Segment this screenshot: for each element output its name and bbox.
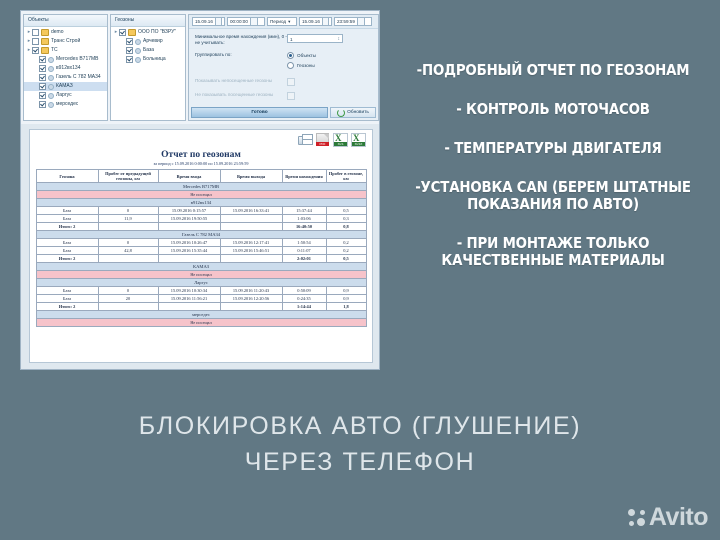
geozones-tree-item[interactable]: ▸ООО ПО "ВЗРУ" bbox=[111, 28, 185, 37]
report-column-header: Время входа bbox=[158, 170, 220, 183]
tree-item-label: в912вх134 bbox=[56, 64, 81, 73]
group-by-option-label: Геозоны bbox=[297, 63, 315, 68]
report-cell: 15.09.2016 12:17:41 bbox=[220, 239, 282, 247]
group-by-radio[interactable]: Геозоны bbox=[287, 62, 316, 69]
marketing-bullet: - ПРИ МОНТАЖЕ ТОЛЬКО КАЧЕСТВЕННЫЕ МАТЕРИ… bbox=[415, 235, 692, 269]
report-total-row: Итого: 216:40:500,8 bbox=[36, 223, 366, 231]
report-cell: 15.09.2016 12:20:56 bbox=[220, 295, 282, 303]
folder-icon bbox=[41, 38, 49, 45]
report-total-cell: 2:02:01 bbox=[282, 255, 326, 263]
report-cell: База bbox=[36, 247, 98, 255]
report-group-row: КАМАЗ bbox=[36, 263, 366, 271]
objects-tree-item[interactable]: ▸demo bbox=[24, 28, 107, 37]
checkbox[interactable] bbox=[39, 92, 46, 99]
report-cell: 0:50:09 bbox=[282, 287, 326, 295]
param-checkbox-label: Не показывать посещенные геозоны bbox=[195, 92, 287, 98]
report-notice-text: Не посещал bbox=[36, 191, 366, 199]
checkbox[interactable] bbox=[32, 29, 39, 36]
report-notice-row: Не посещал bbox=[36, 191, 366, 199]
group-by-label: Группировать по: bbox=[195, 52, 287, 58]
refresh-button-label: Обновить bbox=[347, 108, 369, 117]
period-label: Период bbox=[270, 17, 286, 26]
folder-icon bbox=[41, 29, 49, 36]
report-table-header-row: ГеозонаПробег от предыдущей геозоны, кмВ… bbox=[36, 170, 366, 183]
report-cell: База bbox=[36, 287, 98, 295]
footer-line-1: БЛОКИРОВКА АВТО (ГЛУШЕНИЕ) bbox=[0, 408, 720, 444]
report-total-cell: 0,8 bbox=[326, 223, 366, 231]
tree-item-label: Газель С 782 МА34 bbox=[56, 73, 101, 82]
objects-tree-item[interactable]: Mercedes B717MB bbox=[24, 55, 107, 64]
report-total-cell bbox=[98, 303, 158, 311]
time-from-value: 00:00:00 bbox=[230, 17, 248, 26]
tree-item-label: demo bbox=[51, 28, 64, 37]
radio-indicator[interactable] bbox=[287, 62, 294, 69]
date-range-bar: 15.09.16 00:00:00 Период ▾ 15.09.16 23:5… bbox=[189, 15, 378, 29]
checkbox[interactable] bbox=[39, 83, 46, 90]
chevron-down-icon[interactable] bbox=[357, 17, 365, 26]
calendar-icon[interactable] bbox=[322, 17, 329, 26]
objects-tree-item[interactable]: Ларгус bbox=[24, 91, 107, 100]
objects-tree[interactable]: ▸demo▸Транс Строй▸ТСMercedes B717MBв912в… bbox=[24, 27, 107, 109]
report-group-name: Mercedes B717MB bbox=[36, 183, 366, 191]
vehicle-icon bbox=[48, 66, 54, 72]
group-by-option-label: Объекты bbox=[297, 53, 316, 58]
report-cell: 42,8 bbox=[98, 247, 158, 255]
avito-watermark: Avito bbox=[628, 503, 708, 532]
report-cell: 11,9 bbox=[98, 215, 158, 223]
report-cell: 0 bbox=[98, 207, 158, 215]
report-group-name: КАМАЗ bbox=[36, 263, 366, 271]
date-from-input[interactable]: 15.09.16 bbox=[192, 17, 225, 26]
marketing-bullet-list: -ПОДРОБНЫЙ ОТЧЕТ ПО ГЕОЗОНАМ- КОНТРОЛЬ М… bbox=[392, 62, 714, 269]
geozone-icon bbox=[135, 57, 141, 63]
report-cell bbox=[220, 215, 282, 223]
report-data-row: База2015.09.2016 11:56:2115.09.2016 12:2… bbox=[36, 295, 366, 303]
report-cell: 15.09.2016 11:56:21 bbox=[158, 295, 220, 303]
report-total-cell bbox=[220, 255, 282, 263]
checkbox[interactable] bbox=[32, 47, 39, 54]
time-to-input[interactable]: 23:59:59 bbox=[334, 17, 372, 26]
report-total-cell: 16:40:50 bbox=[282, 223, 326, 231]
tree-item-label: Mercedes B717MB bbox=[56, 55, 99, 64]
report-column-header: Пробег от предыдущей геозоны, км bbox=[98, 170, 158, 183]
report-group-name: в912вх134 bbox=[36, 199, 366, 207]
report-cell: 0,5 bbox=[326, 207, 366, 215]
checkbox[interactable] bbox=[39, 101, 46, 108]
report-total-cell bbox=[220, 223, 282, 231]
app-screenshot: Объекты ▸demo▸Транс Строй▸ТСMercedes B71… bbox=[20, 10, 380, 370]
report-notice-text: Не посещал bbox=[36, 319, 366, 327]
group-by-options[interactable]: ОбъектыГеозоны bbox=[287, 52, 316, 72]
objects-tree-item[interactable]: мерседес bbox=[24, 100, 107, 109]
report-column-header: Время выхода bbox=[220, 170, 282, 183]
xls-icon[interactable]: XXLS bbox=[333, 133, 348, 147]
report-data-row: База42,815.09.2016 15:35:4415.09.2016 15… bbox=[36, 247, 366, 255]
vehicle-icon bbox=[48, 57, 54, 63]
report-group-name: Ларгус bbox=[36, 279, 366, 287]
tree-item-label: База bbox=[143, 46, 154, 55]
report-column-header: Геозона bbox=[36, 170, 98, 183]
checkbox[interactable] bbox=[39, 65, 46, 72]
report-cell: 1:50:54 bbox=[282, 239, 326, 247]
avito-wordmark: Avito bbox=[649, 503, 708, 532]
checkbox[interactable] bbox=[32, 38, 39, 45]
report-group-row: в912вх134 bbox=[36, 199, 366, 207]
tree-item-label: КАМАЗ bbox=[56, 82, 73, 91]
param-checkbox-label: Показывать непосещенные геозоны bbox=[195, 78, 287, 84]
report-cell: База bbox=[36, 239, 98, 247]
xlsx-icon[interactable]: XXLSX bbox=[351, 133, 366, 147]
objects-panel: Объекты ▸demo▸Транс Строй▸ТСMercedes B71… bbox=[23, 14, 108, 121]
geozones-tree[interactable]: ▸ООО ПО "ВЗРУ"АрчевирБазаБольница bbox=[111, 27, 185, 64]
checkbox[interactable] bbox=[126, 38, 133, 45]
report-cell: 15:37:44 bbox=[282, 207, 326, 215]
report-cell: База bbox=[36, 295, 98, 303]
geozone-icon bbox=[135, 48, 141, 54]
report-cell: 15.09.2016 19:50:55 bbox=[158, 215, 220, 223]
report-group-name: Газель С 782 МА34 bbox=[36, 231, 366, 239]
report-params-panel: 15.09.16 00:00:00 Период ▾ 15.09.16 23:5… bbox=[188, 14, 379, 121]
date-to-value: 15.09.16 bbox=[302, 17, 320, 26]
marketing-bullet: -УСТАНОВКА CAN (БЕРЕМ ШТАТНЫЕ ПОКАЗАНИЯ … bbox=[415, 179, 692, 213]
report-cell: 0,2 bbox=[326, 247, 366, 255]
checkbox[interactable] bbox=[39, 56, 46, 63]
report-cell: 20 bbox=[98, 295, 158, 303]
report-cell: 0:11:07 bbox=[282, 247, 326, 255]
checkbox bbox=[287, 78, 295, 86]
report-cell: 15.09.2016 11:20:43 bbox=[220, 287, 282, 295]
min-time-label: Минимальное время нахождения (мин), 0 - … bbox=[195, 34, 287, 46]
report-group-row: Ларгус bbox=[36, 279, 366, 287]
folder-icon bbox=[128, 29, 136, 36]
objects-tree-item[interactable]: Газель С 782 МА34 bbox=[24, 73, 107, 82]
radio-indicator[interactable] bbox=[287, 52, 294, 59]
tree-item-label: Больница bbox=[143, 55, 166, 64]
report-cell: 15.09.2016 10:30:34 bbox=[158, 287, 220, 295]
objects-tree-item[interactable]: КАМАЗ bbox=[24, 82, 107, 91]
report-total-cell bbox=[220, 303, 282, 311]
report-cell: 15.09.2016 10:26:47 bbox=[158, 239, 220, 247]
report-data-row: База015.09.2016 0:15:5715.09.2016 16:33:… bbox=[36, 207, 366, 215]
report-total-cell bbox=[98, 255, 158, 263]
print-icon[interactable] bbox=[297, 133, 312, 147]
objects-panel-header: Объекты bbox=[24, 15, 107, 27]
report-total-cell bbox=[98, 223, 158, 231]
report-notice-text: Не посещал bbox=[36, 271, 366, 279]
report-cell: 0,3 bbox=[326, 215, 366, 223]
report-cell: 15.09.2016 15:35:44 bbox=[158, 247, 220, 255]
params-button-row: Готово Обновить bbox=[189, 105, 378, 120]
report-total-row: Итого: 21:14:441,8 bbox=[36, 303, 366, 311]
group-by-row: Группировать по: ОбъектыГеозоны bbox=[195, 52, 372, 72]
tree-item-label: мерседес bbox=[56, 100, 78, 109]
report-cell: 0 bbox=[98, 239, 158, 247]
min-time-row: Минимальное время нахождения (мин), 0 - … bbox=[195, 34, 372, 46]
folder-icon bbox=[41, 47, 49, 54]
marketing-footer: БЛОКИРОВКА АВТО (ГЛУШЕНИЕ) ЧЕРЕЗ ТЕЛЕФОН bbox=[0, 408, 720, 480]
tree-item-label: ТС bbox=[51, 46, 58, 55]
chevron-down-icon: ▾ bbox=[288, 17, 290, 26]
param-checkbox-list: Показывать непосещенные геозоныНе показы… bbox=[195, 78, 372, 100]
report-table: ГеозонаПробег от предыдущей геозоны, кмВ… bbox=[36, 169, 367, 327]
report-notice-row: Не посещал bbox=[36, 271, 366, 279]
time-from-input[interactable]: 00:00:00 bbox=[227, 17, 265, 26]
checkbox[interactable] bbox=[119, 29, 126, 36]
checkbox[interactable] bbox=[126, 47, 133, 54]
objects-tree-item[interactable]: ▸Транс Строй bbox=[24, 37, 107, 46]
date-from-value: 15.09.16 bbox=[195, 17, 213, 26]
vehicle-icon bbox=[48, 84, 54, 90]
report-total-cell bbox=[158, 255, 220, 263]
period-select[interactable]: Период ▾ bbox=[267, 17, 297, 26]
param-checkbox-row: Не показывать посещенные геозоны bbox=[195, 92, 372, 100]
date-to-input[interactable]: 15.09.16 bbox=[299, 17, 332, 26]
group-by-radio[interactable]: Объекты bbox=[287, 52, 316, 59]
footer-line-2: ЧЕРЕЗ ТЕЛЕФОН bbox=[0, 444, 720, 480]
report-total-cell: Итого: 2 bbox=[36, 223, 98, 231]
report-notice-row: Не посещал bbox=[36, 319, 366, 327]
report-cell: 15.09.2016 0:15:57 bbox=[158, 207, 220, 215]
geozone-icon bbox=[135, 39, 141, 45]
app-top-area: Объекты ▸demo▸Транс Строй▸ТСMercedes B71… bbox=[21, 11, 380, 124]
report-group-row: Mercedes B717MB bbox=[36, 183, 366, 191]
params-body: Минимальное время нахождения (мин), 0 - … bbox=[189, 29, 378, 111]
report-total-cell: 1:14:44 bbox=[282, 303, 326, 311]
marketing-bullet: -ПОДРОБНЫЙ ОТЧЕТ ПО ГЕОЗОНАМ bbox=[415, 62, 692, 79]
report-cell: 0,9 bbox=[326, 295, 366, 303]
report-group-row: мерседес bbox=[36, 311, 366, 319]
param-checkbox-row: Показывать непосещенные геозоны bbox=[195, 78, 372, 86]
report-title: Отчет по геозонам bbox=[30, 150, 372, 160]
report-total-cell bbox=[158, 223, 220, 231]
vehicle-icon bbox=[48, 75, 54, 81]
refresh-icon bbox=[337, 109, 345, 117]
tree-item-label: Ларгус bbox=[56, 91, 72, 100]
vehicle-icon bbox=[48, 93, 54, 99]
report-cell: 0:24:35 bbox=[282, 295, 326, 303]
marketing-bullet: - КОНТРОЛЬ МОТОЧАСОВ bbox=[415, 101, 692, 118]
report-cell: 15.09.2016 15:46:51 bbox=[220, 247, 282, 255]
report-cell: База bbox=[36, 207, 98, 215]
report-total-cell: Итого: 2 bbox=[36, 303, 98, 311]
calendar-icon[interactable] bbox=[215, 17, 222, 26]
report-group-row: Газель С 782 МА34 bbox=[36, 231, 366, 239]
report-data-row: База015.09.2016 10:26:4715.09.2016 12:17… bbox=[36, 239, 366, 247]
report-cell: 0 bbox=[98, 287, 158, 295]
report-cell: 1:03:06 bbox=[282, 215, 326, 223]
geozones-tree-item[interactable]: База bbox=[111, 46, 185, 55]
report-total-cell: 1,8 bbox=[326, 303, 366, 311]
geozones-tree-item[interactable]: Больница bbox=[111, 55, 185, 64]
geozones-panel-header: Геозоны bbox=[111, 15, 185, 27]
checkbox[interactable] bbox=[126, 56, 133, 63]
chevron-down-icon[interactable] bbox=[250, 17, 258, 26]
tree-item-label: Арчевир bbox=[143, 37, 163, 46]
done-button[interactable]: Готово bbox=[191, 107, 328, 118]
vehicle-icon bbox=[48, 102, 54, 108]
min-time-input[interactable]: 1 bbox=[287, 34, 343, 43]
avito-logo-icon bbox=[628, 509, 645, 526]
objects-tree-item[interactable]: ▸ТС bbox=[24, 46, 107, 55]
report-total-row: Итого: 22:02:010,5 bbox=[36, 255, 366, 263]
report-cell: База bbox=[36, 215, 98, 223]
pdf-icon[interactable]: PDF bbox=[315, 133, 330, 147]
report-total-cell: Итого: 2 bbox=[36, 255, 98, 263]
checkbox bbox=[287, 92, 295, 100]
report-group-name: мерседес bbox=[36, 311, 366, 319]
report-total-cell bbox=[158, 303, 220, 311]
marketing-bullet: - ТЕМПЕРАТУРЫ ДВИГАТЕЛЯ bbox=[415, 140, 692, 157]
report-total-cell: 0,5 bbox=[326, 255, 366, 263]
report-data-row: База11,915.09.2016 19:50:551:03:060,3 bbox=[36, 215, 366, 223]
report-table-body: Mercedes B717MBНе посещалв912вх134База01… bbox=[36, 183, 366, 327]
geozones-tree-item[interactable]: Арчевир bbox=[111, 37, 185, 46]
report-cell: 15.09.2016 16:33:41 bbox=[220, 207, 282, 215]
report-subtitle: за период с 15.09.2016 0:00:00 по 15.09.… bbox=[30, 161, 372, 166]
report-export-toolbar: PDF XXLS XXLSX bbox=[30, 130, 372, 148]
time-to-value: 23:59:59 bbox=[337, 17, 355, 26]
report-column-header: Пробег в геозоне, км bbox=[326, 170, 366, 183]
objects-tree-item[interactable]: в912вх134 bbox=[24, 64, 107, 73]
geozones-panel: Геозоны ▸ООО ПО "ВЗРУ"АрчевирБазаБольниц… bbox=[110, 14, 186, 121]
report-area: PDF XXLS XXLSX Отчет по геозонам за пери… bbox=[29, 129, 373, 363]
tree-item-label: ООО ПО "ВЗРУ" bbox=[138, 28, 176, 37]
report-cell: 0,9 bbox=[326, 287, 366, 295]
refresh-button[interactable]: Обновить bbox=[330, 107, 376, 118]
report-cell: 0,2 bbox=[326, 239, 366, 247]
report-data-row: База015.09.2016 10:30:3415.09.2016 11:20… bbox=[36, 287, 366, 295]
checkbox[interactable] bbox=[39, 74, 46, 81]
report-column-header: Время нахождения bbox=[282, 170, 326, 183]
tree-item-label: Транс Строй bbox=[51, 37, 80, 46]
